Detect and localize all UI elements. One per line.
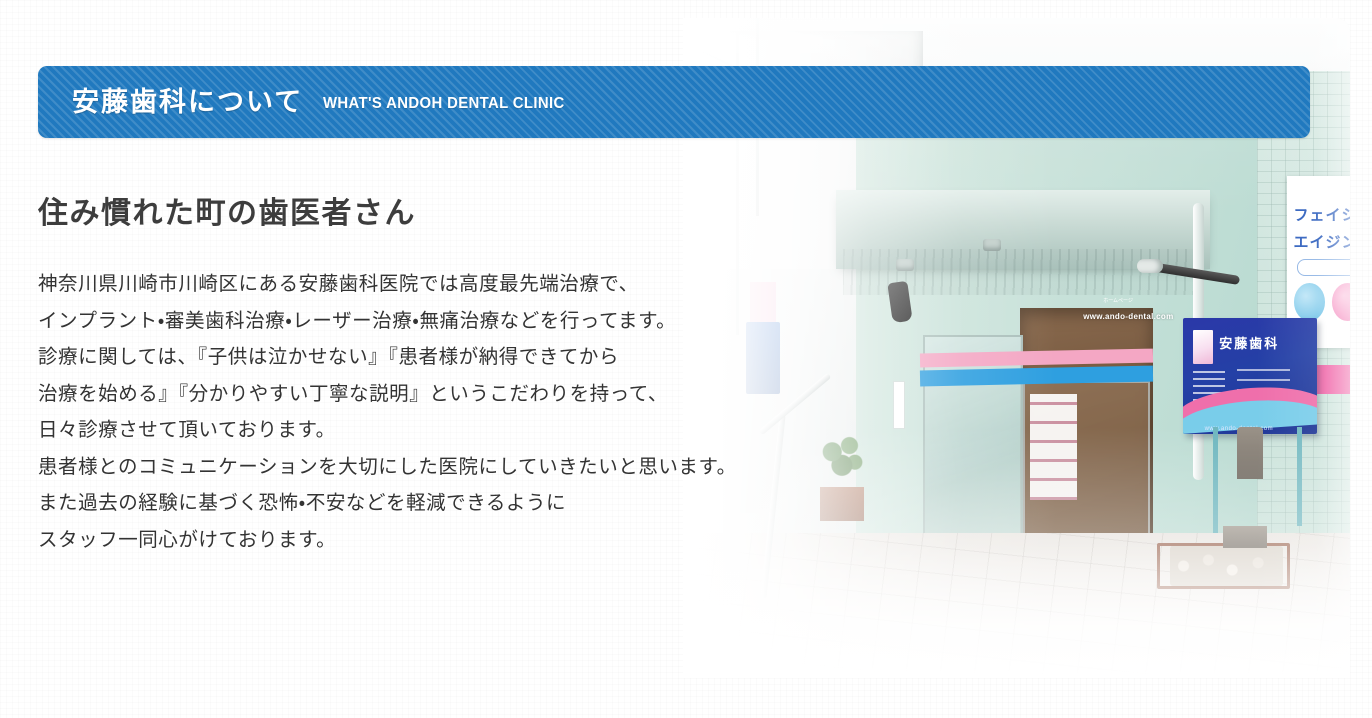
signboard-post-right: [1297, 427, 1302, 526]
poster-blue-bubble: [1294, 283, 1325, 321]
photo-ceiling-lamp: [896, 259, 914, 271]
intro-paragraph: 神奈川県川崎市川崎区にある安藤歯科医院では高度最先端治療で、 インプラント・審美…: [38, 266, 838, 558]
photo-homepage-url: www.ando-dental.com: [1083, 312, 1173, 321]
photo-gravel-bed: [1170, 546, 1283, 586]
page-title: 住み慣れた町の歯医者さん: [38, 196, 838, 232]
content-column: 住み慣れた町の歯医者さん 神奈川県川崎市川崎区にある安藤歯科医院では高度最先端治…: [38, 196, 838, 558]
paragraph-line: 治療を始める』『分かりやすい丁寧な説明』というこだわりを持って、: [38, 376, 838, 413]
paragraph-line: 日々診療させて頂いております。: [38, 412, 838, 449]
poster-line-2: エイジング: [1294, 231, 1350, 252]
photo-lantern-base: [1223, 526, 1267, 548]
banner-title-english: WHAT'S ANDOH DENTAL CLINIC: [323, 93, 565, 112]
paragraph-line: 患者様とのコミュニケーションを大切にした医院にしていきたいと思います。: [38, 449, 838, 486]
paragraph-line: 神奈川県川崎市川崎区にある安藤歯科医院では高度最先端治療で、: [38, 266, 838, 303]
signboard-post-left: [1213, 427, 1218, 533]
banner-title-japanese: 安藤歯科について: [72, 89, 303, 116]
paragraph-line: インプラント・審美歯科治療・レーザー治療・無痛治療などを行ってます。: [38, 303, 838, 340]
photo-stone-lantern: [1237, 427, 1263, 479]
poster-pink-bubble: [1332, 283, 1350, 321]
paragraph-line: 診療に関しては、『子供は泣かせない』『患者様が納得できてから: [38, 339, 838, 376]
photo-wall-plate: [893, 381, 905, 429]
photo-clinic-signboard: 安藤歯科 www.ando-dental.com: [1183, 318, 1316, 434]
paragraph-line: また過去の経験に基づく恐怖・不安などを軽減できるように: [38, 485, 838, 522]
photo-treatment-menu-strip: [1030, 394, 1077, 500]
page-root: ホームページ www.ando-dental.com フェイシャル エイジング …: [0, 0, 1372, 718]
section-banner: 安藤歯科について WHAT'S ANDOH DENTAL CLINIC: [38, 66, 1310, 138]
poster-line-1: フェイシャル: [1294, 204, 1350, 225]
signboard-logo-mark: [1193, 330, 1213, 365]
photo-homepage-label: ホームページ: [1103, 297, 1133, 304]
photo-ceiling-lamp: [983, 239, 1001, 251]
paragraph-line: スタッフ一同心がけております。: [38, 522, 838, 559]
photo-security-camera: [1137, 259, 1163, 273]
poster-pill: [1297, 259, 1350, 276]
signboard-clinic-name: 安藤歯科: [1219, 333, 1279, 352]
